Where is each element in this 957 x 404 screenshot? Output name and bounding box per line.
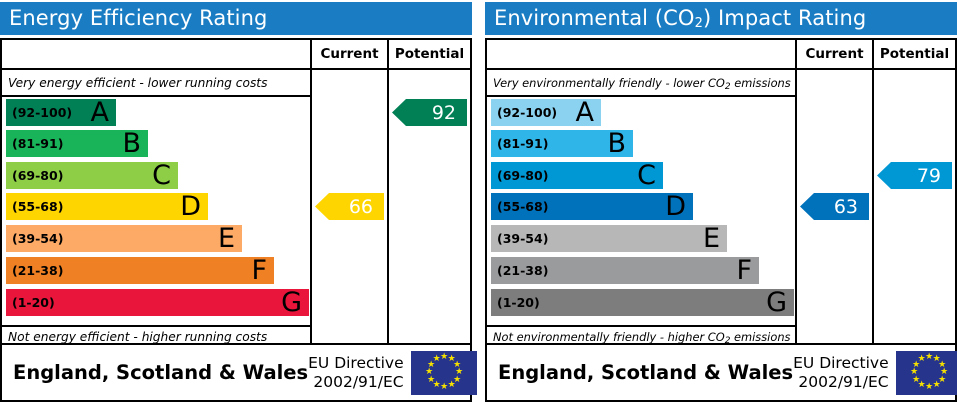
column-header-potential: Potential	[387, 40, 470, 68]
eu-star: ★	[425, 369, 432, 376]
band-range-label: (69-80)	[491, 168, 548, 183]
band-letter-label: D	[665, 193, 693, 220]
current-rating-value: 66	[349, 196, 373, 218]
band-letter-label: G	[281, 289, 309, 316]
eu-star: ★	[933, 382, 940, 389]
eu-star: ★	[925, 354, 932, 361]
eu-star: ★	[427, 377, 434, 384]
rating-band-f: (21-38)F	[491, 257, 759, 284]
rating-band-e: (39-54)E	[6, 225, 242, 252]
chart-title-bar: Environmental (CO2) Impact Rating	[485, 2, 957, 35]
current-rating-arrow: 63	[800, 193, 869, 220]
band-letter-label: D	[180, 193, 208, 220]
band-range-label: (39-54)	[491, 231, 548, 246]
eu-flag-icon: ★★★★★★★★★★★★	[896, 351, 957, 395]
caption-efficient-top: Very energy efficient - lower running co…	[8, 76, 308, 90]
column-divider-potential	[387, 70, 389, 345]
footer-region-label: England, Scotland & Wales	[2, 361, 308, 384]
rating-band-f: (21-38)F	[6, 257, 274, 284]
column-header-row: CurrentPotential	[2, 40, 470, 70]
band-letter-label: E	[218, 225, 242, 252]
rating-band-c: (69-80)C	[491, 162, 663, 189]
potential-rating-arrow: 92	[392, 99, 467, 126]
current-rating-arrow: 66	[315, 193, 384, 220]
caption-inefficient-bottom: Not energy efficient - higher running co…	[8, 330, 308, 344]
energy-efficiency-rating-chart: Energy Efficiency RatingCurrentPotential…	[0, 0, 472, 404]
rating-band-g: (1-20)G	[491, 289, 794, 316]
band-letter-label: B	[122, 130, 148, 157]
footer-region-label: England, Scotland & Wales	[487, 361, 793, 384]
column-header-current: Current	[310, 40, 387, 68]
chart-footer: England, Scotland & WalesEU Directive200…	[485, 345, 957, 402]
eu-star: ★	[440, 384, 447, 391]
band-letter-label: C	[152, 162, 178, 189]
eu-flag-icon: ★★★★★★★★★★★★	[411, 351, 477, 395]
column-header-row: CurrentPotential	[487, 40, 955, 70]
rating-table-frame: CurrentPotentialVery environmentally fri…	[485, 38, 957, 345]
band-range-label: (21-38)	[6, 263, 63, 278]
band-range-label: (92-100)	[6, 105, 72, 120]
co2-impact-rating-chart: Environmental (CO2) Impact RatingCurrent…	[485, 0, 957, 404]
band-letter-label: A	[91, 99, 116, 126]
band-letter-label: A	[576, 99, 601, 126]
column-divider-current	[795, 70, 797, 345]
potential-rating-arrow: 79	[877, 162, 952, 189]
rating-band-list: (92-100)A(81-91)B(69-80)C(55-68)D(39-54)…	[6, 97, 310, 325]
band-letter-label: F	[736, 257, 759, 284]
band-range-label: (81-91)	[491, 136, 548, 151]
band-letter-label: G	[766, 289, 794, 316]
caption-efficient-top: Very environmentally friendly - lower CO…	[493, 76, 801, 90]
band-range-label: (39-54)	[6, 231, 63, 246]
caption-inefficient-bottom: Not environmentally friendly - higher CO…	[493, 330, 801, 344]
band-range-label: (21-38)	[491, 263, 548, 278]
rating-band-g: (1-20)G	[6, 289, 309, 316]
potential-rating-value: 79	[917, 165, 941, 187]
subscript-2: 2	[725, 82, 731, 92]
footer-directive-label: EU Directive2002/91/EC	[308, 354, 411, 392]
subscript-2: 2	[695, 16, 703, 31]
rating-band-b: (81-91)B	[491, 130, 633, 157]
footer-directive-label: EU Directive2002/91/EC	[793, 354, 896, 392]
rating-band-d: (55-68)D	[491, 193, 693, 220]
chart-title-bar: Energy Efficiency Rating	[0, 2, 472, 35]
column-header-current: Current	[795, 40, 872, 68]
eu-star: ★	[925, 384, 932, 391]
rating-band-d: (55-68)D	[6, 193, 208, 220]
divider-below-bands	[2, 325, 310, 327]
eu-star: ★	[433, 356, 440, 363]
potential-rating-value: 92	[432, 102, 456, 124]
eu-star: ★	[918, 356, 925, 363]
band-range-label: (81-91)	[6, 136, 63, 151]
column-divider-current	[310, 70, 312, 345]
column-divider-potential	[872, 70, 874, 345]
rating-table-frame: CurrentPotentialVery energy efficient - …	[0, 38, 472, 345]
rating-band-e: (39-54)E	[491, 225, 727, 252]
band-letter-label: C	[637, 162, 663, 189]
band-range-label: (1-20)	[6, 295, 55, 310]
band-range-label: (55-68)	[491, 199, 548, 214]
chart-title-text: Energy Efficiency Rating	[9, 6, 267, 30]
divider-below-bands	[487, 325, 795, 327]
band-range-label: (1-20)	[491, 295, 540, 310]
eu-star: ★	[448, 382, 455, 389]
current-rating-value: 63	[834, 196, 858, 218]
column-header-potential: Potential	[872, 40, 955, 68]
rating-band-list: (92-100)A(81-91)B(69-80)C(55-68)D(39-54)…	[491, 97, 795, 325]
band-range-label: (55-68)	[6, 199, 63, 214]
epc-charts-container: Energy Efficiency RatingCurrentPotential…	[0, 0, 957, 404]
chart-title-text: Environmental (CO2) Impact Rating	[494, 6, 866, 30]
band-range-label: (69-80)	[6, 168, 63, 183]
rating-band-b: (81-91)B	[6, 130, 148, 157]
eu-star: ★	[910, 369, 917, 376]
band-letter-label: E	[703, 225, 727, 252]
rating-band-c: (69-80)C	[6, 162, 178, 189]
eu-star: ★	[440, 354, 447, 361]
rating-band-a: (92-100)A	[6, 99, 116, 126]
chart-footer: England, Scotland & WalesEU Directive200…	[0, 345, 472, 402]
band-range-label: (92-100)	[491, 105, 557, 120]
rating-band-a: (92-100)A	[491, 99, 601, 126]
band-letter-label: F	[251, 257, 274, 284]
band-letter-label: B	[607, 130, 633, 157]
eu-star: ★	[912, 377, 919, 384]
